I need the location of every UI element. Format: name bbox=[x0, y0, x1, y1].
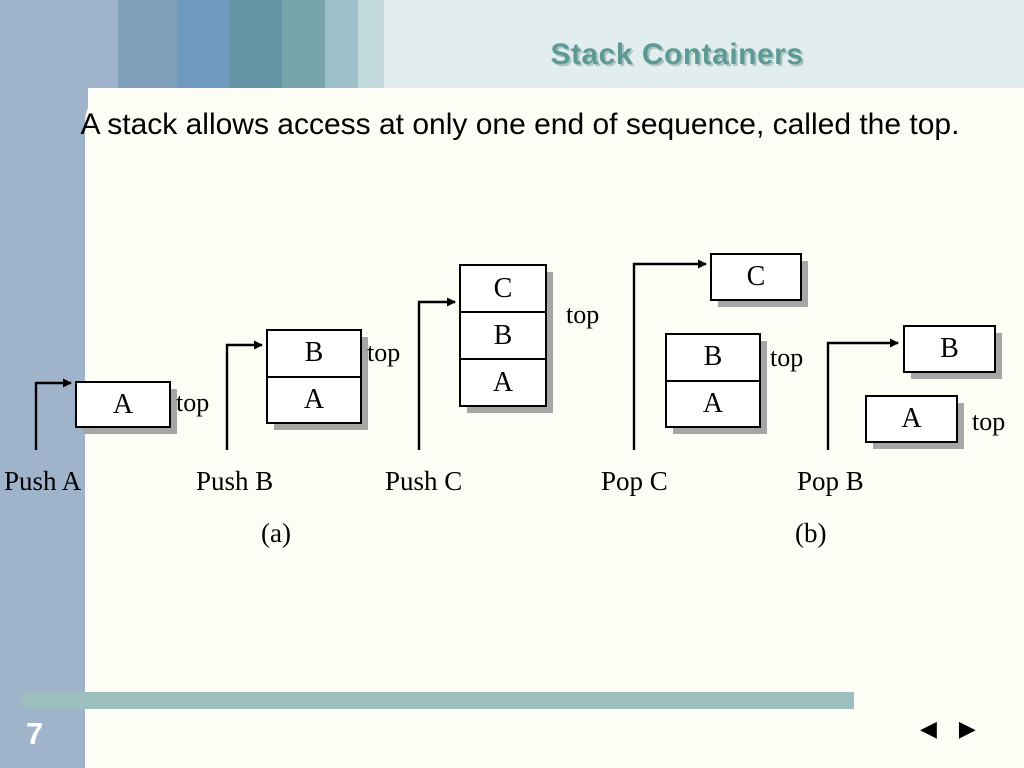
content-panel bbox=[85, 88, 1024, 768]
slide: Stack Containers A stack allows access a… bbox=[0, 0, 1024, 768]
page-number: 7 bbox=[26, 718, 43, 749]
navigation-arrows: ◀ ▶ bbox=[920, 718, 976, 740]
slide-subtitle: A stack allows access at only one end of… bbox=[55, 104, 985, 145]
previous-slide-icon[interactable]: ◀ bbox=[920, 718, 937, 740]
page-title: Stack Containers bbox=[0, 38, 1024, 72]
footer-bar bbox=[20, 692, 854, 709]
next-slide-icon[interactable]: ▶ bbox=[959, 718, 976, 740]
